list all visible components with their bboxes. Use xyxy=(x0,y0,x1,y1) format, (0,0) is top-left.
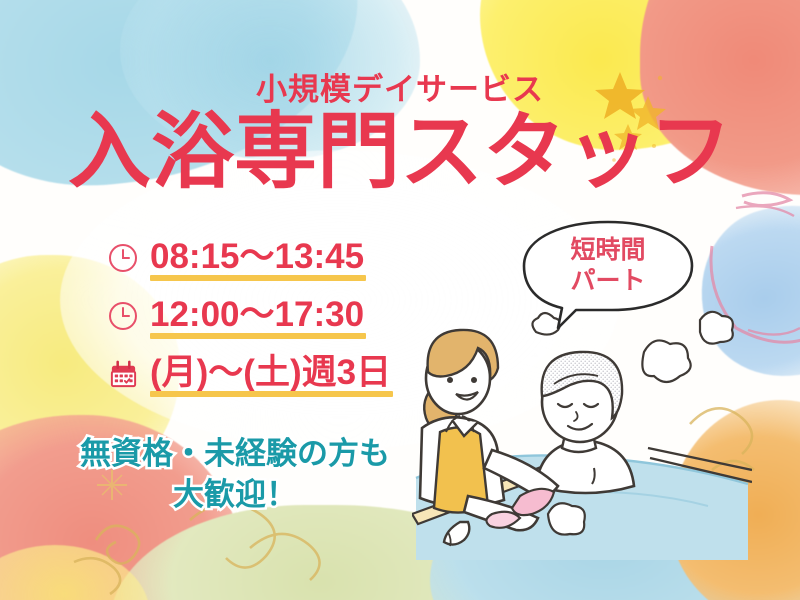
welcome-line-2: 大歓迎！ xyxy=(0,475,470,516)
welcome-line-1: 無資格・未経験の方も xyxy=(0,434,470,475)
illustration-bathing-assistance xyxy=(412,300,752,560)
page-title: 入浴専門スタッフ xyxy=(0,108,800,195)
detail-text-shift-morning: 08:15〜13:45 xyxy=(150,239,364,278)
clock-icon xyxy=(106,299,140,333)
steam-puff-2 xyxy=(642,340,690,382)
detail-text-shift-afternoon: 12:00〜17:30 xyxy=(150,297,364,336)
bubble-line-1: 短時間 xyxy=(570,235,645,266)
detail-row-shift-afternoon: 12:00〜17:30 xyxy=(106,294,391,338)
caregiver-eye-left xyxy=(447,377,453,383)
detail-text-workdays: (月)〜(土)週3日 xyxy=(150,355,391,394)
steam-puff-4 xyxy=(548,503,585,534)
caregiver-eye-right xyxy=(471,377,477,383)
detail-row-shift-morning: 08:15〜13:45 xyxy=(106,236,391,280)
detail-row-workdays: (月)〜(土)週3日 xyxy=(106,352,391,396)
welcome-message: 無資格・未経験の方も 大歓迎！ xyxy=(0,434,470,516)
speech-bubble-text: 短時間 パート xyxy=(518,218,698,314)
bubble-line-2: パート xyxy=(570,266,645,297)
calendar-icon xyxy=(106,357,140,391)
elderly-bather xyxy=(536,352,634,493)
schedule-details: 08:15〜13:45 12:00〜17:30 xyxy=(106,236,391,410)
steam-puff-3 xyxy=(700,312,733,344)
speech-bubble: 短時間 パート xyxy=(518,218,698,328)
subtitle: 小規模デイサービス xyxy=(0,64,800,109)
poster-canvas: 小規模デイサービス 入浴専門スタッフ 08:15〜13:45 12:00〜17:… xyxy=(0,0,800,600)
clock-icon xyxy=(106,241,140,275)
